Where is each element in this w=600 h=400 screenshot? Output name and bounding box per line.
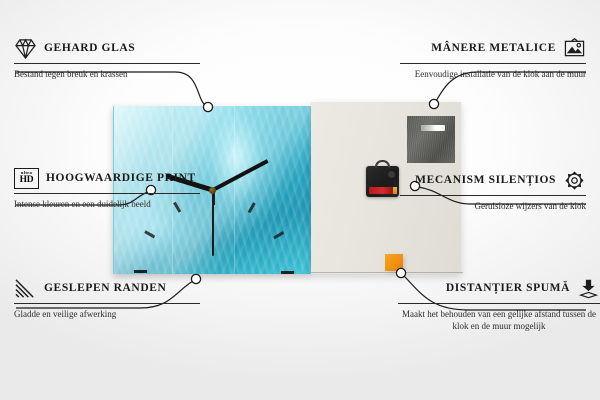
- callout-distantier-spuma[interactable]: DISTANȚIER SPUMĂ Maakt het behouden van …: [398, 278, 600, 332]
- ultra-hd-icon-main: HD: [20, 176, 34, 186]
- callout-rule: [400, 63, 586, 64]
- callout-subtext: Bestand tegen breuk en krassen: [14, 68, 200, 80]
- callout-subtext: Eenvoudige installatie van de klok aan d…: [400, 68, 586, 80]
- clock-tick: [132, 271, 214, 273]
- callout-title: MECANISM SILENȚIOS: [415, 174, 556, 188]
- gear-icon: [563, 170, 586, 191]
- callout-head: DISTANȚIER SPUMĂ: [398, 278, 600, 299]
- callout-subtext: Gladde en veilige afwerking: [14, 308, 200, 320]
- callout-subtext: Geruisloze wijzers van de klok: [400, 200, 586, 212]
- callout-manere-metalice[interactable]: MÂNERE METALICE Eenvoudige installatie v…: [400, 38, 586, 80]
- callout-head: GEHARD GLAS: [14, 38, 200, 59]
- callout-title: HOOGWAARDIGE PRINT: [46, 172, 196, 186]
- infographic-stage: GEHARD GLAS Bestand tegen breuk en krass…: [0, 0, 600, 400]
- callout-head: MECANISM SILENȚIOS: [400, 170, 586, 191]
- mechanism-hanging-loop: [375, 160, 390, 168]
- clock-minute-hand: [212, 159, 269, 192]
- callout-title: GEHARD GLAS: [44, 42, 135, 56]
- callout-rule: [400, 195, 586, 196]
- callout-title: DISTANȚIER SPUMĂ: [446, 282, 570, 296]
- clock-tick: [213, 200, 256, 272]
- ultra-hd-icon: ultra HD: [14, 168, 39, 189]
- clock-second-hand: [212, 190, 214, 256]
- clock-center-cap: [209, 187, 216, 194]
- callout-head: ultra HD HOOGWAARDIGE PRINT: [14, 168, 200, 189]
- callout-rule: [14, 193, 200, 194]
- diamond-icon: [14, 38, 37, 59]
- callout-head: MÂNERE METALICE: [400, 38, 586, 59]
- callout-mecanism-silentios[interactable]: MECANISM SILENȚIOS Geruisloze wijzers va…: [400, 170, 586, 212]
- mechanism-battery: [369, 187, 394, 194]
- callout-subtext: Maakt het behouden van een gelijke afsta…: [398, 308, 600, 332]
- callout-hoogwaardige-print[interactable]: ultra HD HOOGWAARDIGE PRINT Intense kleu…: [14, 168, 200, 210]
- bevelled-edges-icon: [14, 278, 37, 299]
- metal-hook: [421, 125, 445, 131]
- callout-title: MÂNERE METALICE: [431, 42, 556, 56]
- callout-rule: [14, 303, 200, 304]
- clock-tick: [172, 200, 215, 272]
- picture-frame-hanger-icon: [563, 38, 586, 59]
- metal-hanger-plate: [407, 116, 455, 163]
- surface-line: [311, 272, 463, 273]
- foam-spacer: [385, 254, 403, 271]
- callout-geslepen-randen[interactable]: GESLEPEN RANDEN Gladde en veilige afwerk…: [14, 278, 200, 320]
- foam-spacer-icon: [577, 278, 600, 299]
- clock-mechanism: [366, 166, 399, 197]
- callout-subtext: Intense kleuren en een duidelijk beeld: [14, 198, 200, 210]
- mechanism-dial: [388, 171, 395, 178]
- callout-gehard-glas[interactable]: GEHARD GLAS Bestand tegen breuk en krass…: [14, 38, 200, 80]
- clock-tick: [214, 271, 296, 273]
- callout-rule: [14, 63, 200, 64]
- callout-rule: [398, 303, 600, 304]
- callout-head: GESLEPEN RANDEN: [14, 278, 200, 299]
- callout-title: GESLEPEN RANDEN: [44, 282, 166, 296]
